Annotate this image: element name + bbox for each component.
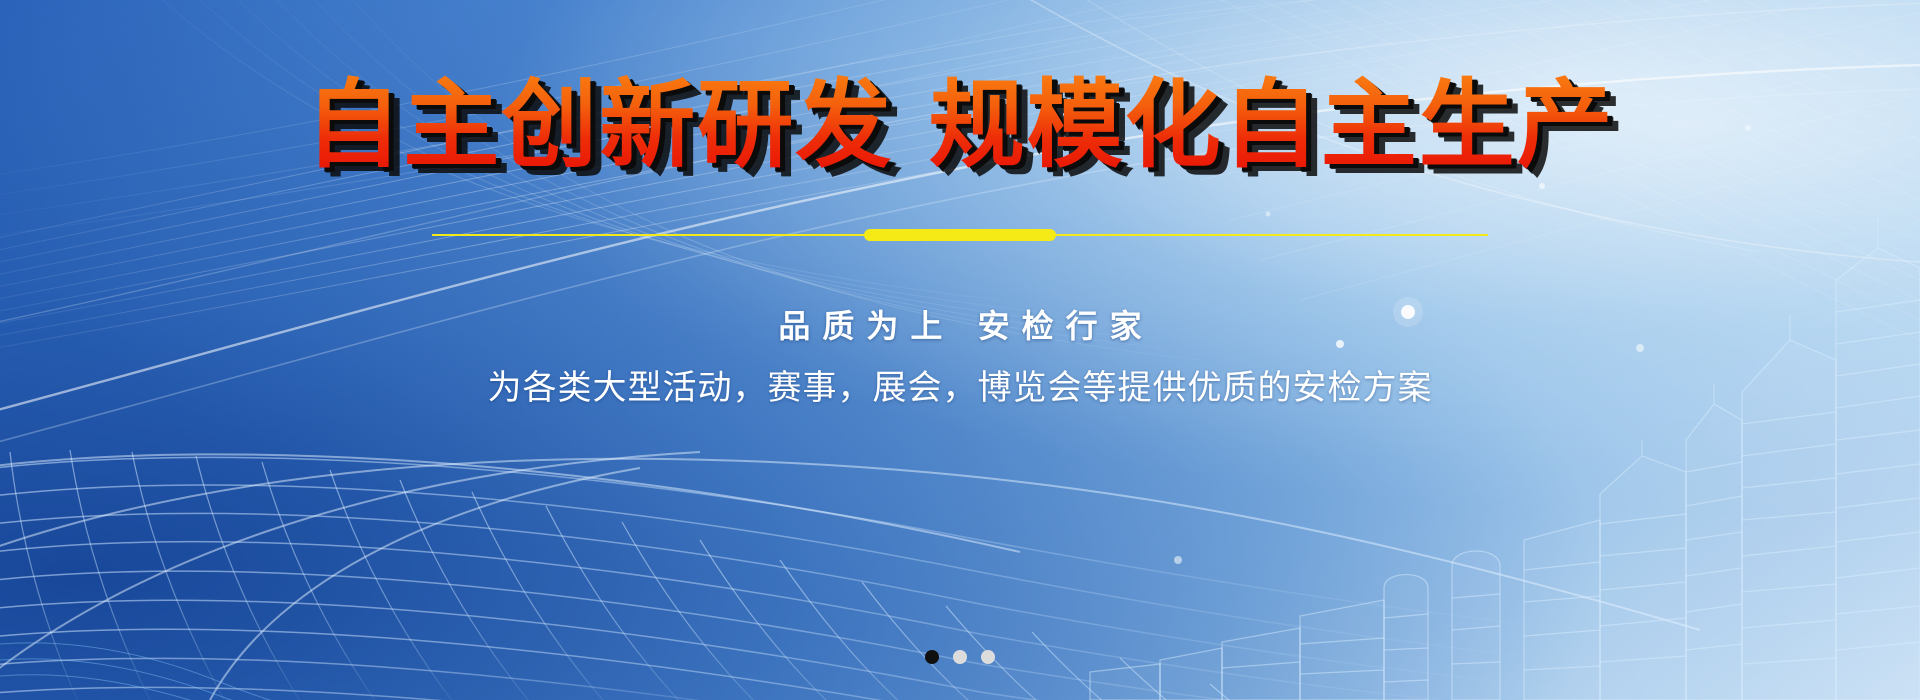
banner-subtitle-block: 品质为上 安检行家 为各类大型活动，赛事，展会，博览会等提供优质的安检方案 xyxy=(0,306,1920,410)
carousel-dot-2[interactable] xyxy=(953,650,967,664)
carousel-dot-1[interactable] xyxy=(925,650,939,664)
banner-title-block: 自主创新研发 规模化自主生产 xyxy=(0,74,1920,178)
carousel-dots xyxy=(0,650,1920,664)
title-divider xyxy=(0,228,1920,242)
divider-center-bar xyxy=(864,229,1056,241)
banner-main-title: 自主创新研发 规模化自主生产 xyxy=(305,74,1614,178)
banner-slogan: 品质为上 安检行家 xyxy=(0,306,1920,348)
hero-banner: 自主创新研发 规模化自主生产 品质为上 安检行家 为各类大型活动，赛事，展会，博… xyxy=(0,0,1920,700)
carousel-dot-3[interactable] xyxy=(981,650,995,664)
banner-description: 为各类大型活动，赛事，展会，博览会等提供优质的安检方案 xyxy=(0,366,1920,410)
